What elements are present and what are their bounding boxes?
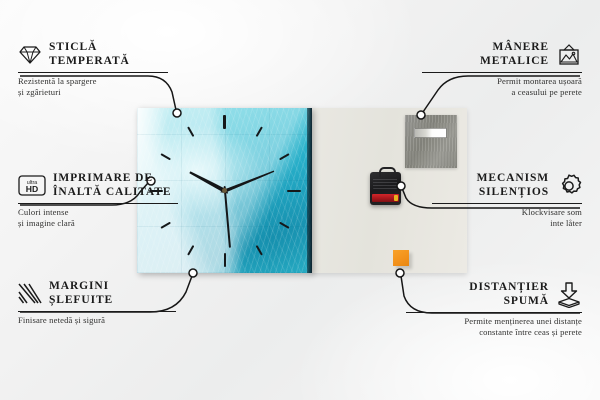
callout-mechanism-head: MECANISM SILENȚIOS: [432, 172, 582, 199]
callout-edges-rule: [18, 311, 176, 312]
callout-edges-head: MARGINI ȘLEFUITE: [18, 280, 176, 307]
callout-print: ultra HD IMPRIMARE DE ÎNALTĂ CALITATE Cu…: [18, 172, 178, 229]
callout-handles-title: MÂNERE METALICE: [480, 41, 549, 68]
mechanism-body: [373, 177, 397, 189]
callout-edges-desc: Finisare netedă și sigură: [18, 315, 176, 326]
callout-glass-desc: Rezistentă la spargere și zgârieturi: [18, 76, 168, 98]
clock-center-pin: [222, 188, 227, 193]
callout-glass-head: STICLĂ TEMPERATĂ: [18, 41, 168, 68]
ultra-hd-icon: ultra HD: [18, 175, 46, 196]
callout-handles-head: MÂNERE METALICE: [422, 41, 582, 68]
callout-spacer: DISTANȚIER SPUMĂ Permite menținerea unei…: [406, 281, 582, 338]
callout-handles-rule: [422, 72, 582, 73]
mechanism-hanging-loop: [379, 167, 396, 177]
callout-spacer-rule: [406, 312, 582, 313]
callout-print-title: IMPRIMARE DE ÎNALTĂ CALITATE: [53, 172, 171, 199]
clock-mechanism: [370, 172, 401, 205]
callout-mechanism-desc: Klockvisare som inte låter: [432, 207, 582, 229]
callout-glass-title: STICLĂ TEMPERATĂ: [49, 41, 130, 68]
callout-handles: MÂNERE METALICE Permit montarea ușoară a…: [422, 41, 582, 98]
svg-text:HD: HD: [26, 184, 38, 194]
callout-spacer-desc: Permite menținerea unei distanțe constan…: [406, 316, 582, 338]
callout-spacer-head: DISTANȚIER SPUMĂ: [406, 281, 582, 308]
callout-handles-desc: Permit montarea ușoară a ceasului pe per…: [422, 76, 582, 98]
infographic-stage: STICLĂ TEMPERATĂ Rezistentă la spargere …: [0, 0, 600, 400]
callout-glass: STICLĂ TEMPERATĂ Rezistentă la spargere …: [18, 41, 168, 98]
callout-mechanism-rule: [432, 203, 582, 204]
hanger-slot: [414, 128, 447, 138]
callout-spacer-title: DISTANȚIER SPUMĂ: [469, 281, 549, 308]
battery: [372, 194, 399, 202]
callout-print-head: ultra HD IMPRIMARE DE ÎNALTĂ CALITATE: [18, 172, 178, 199]
callout-edges-title: MARGINI ȘLEFUITE: [49, 280, 113, 307]
callout-print-desc: Culori intense și imagine clară: [18, 207, 178, 229]
gear-icon: [556, 173, 582, 199]
callout-mechanism: MECANISM SILENȚIOS Klockvisare som inte …: [432, 172, 582, 229]
metal-hanger-plate: [405, 115, 457, 168]
callout-print-rule: [18, 203, 178, 204]
foam-spacer: [393, 250, 409, 266]
callout-edges: MARGINI ȘLEFUITE Finisare netedă și sigu…: [18, 280, 176, 326]
arrow-down-pad-icon: [556, 282, 582, 308]
picture-hanger-icon: [556, 44, 582, 66]
callout-glass-rule: [18, 72, 168, 73]
callout-mechanism-title: MECANISM SILENȚIOS: [477, 172, 549, 199]
diamond-icon: [18, 45, 42, 65]
beveled-edge-icon: [18, 283, 42, 304]
